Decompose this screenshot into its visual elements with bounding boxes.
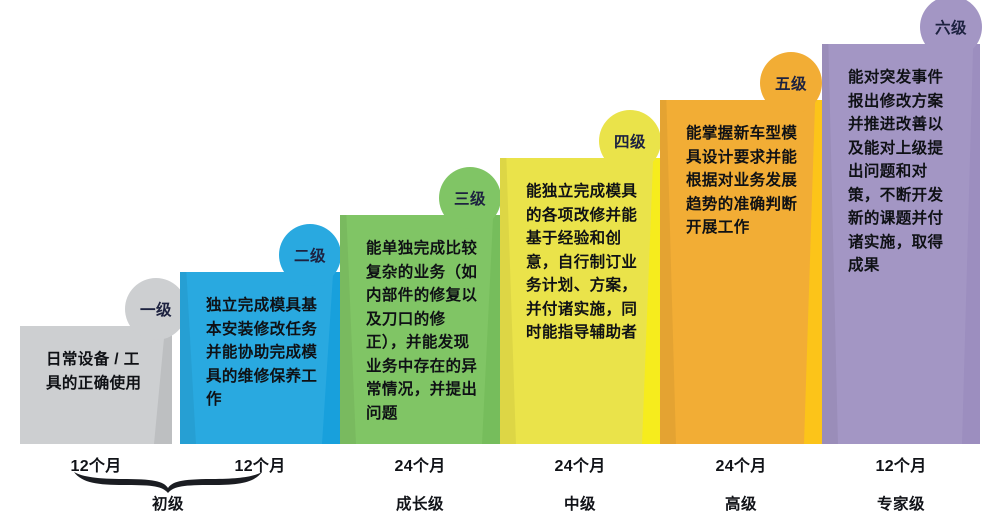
level-bar-2[interactable]: 独立完成模具基本安装修改任务并能协助完成模具的维修保养工作 [180, 272, 340, 444]
level-badge-label: 六级 [935, 16, 967, 38]
baseline-divider [0, 444, 1000, 446]
level-badge-3[interactable]: 三级 [439, 167, 501, 229]
level-description-1: 日常设备 / 工具的正确使用 [20, 348, 172, 395]
level-badge-label: 四级 [614, 130, 646, 152]
level-description-5: 能掌握新车型模具设计要求并能根据对业务发展趋势的准确判断开展工作 [660, 122, 822, 240]
level-bar-6[interactable]: 能对突发事件报出修改方案并推进改善以及能对上级提出问题和对策，不断开发新的课题并… [822, 44, 980, 444]
months-label-5: 24个月 [660, 452, 822, 474]
level-badge-label: 二级 [294, 244, 326, 266]
level-badge-label: 三级 [454, 187, 486, 209]
months-label-3: 24个月 [340, 452, 500, 474]
level-badge-2[interactable]: 二级 [279, 224, 341, 286]
level-badge-1[interactable]: 一级 [125, 278, 187, 340]
level-badge-label: 一级 [140, 298, 172, 320]
group-label-3: 中级 [500, 492, 660, 514]
level-description-6: 能对突发事件报出修改方案并推进改善以及能对上级提出问题和对策，不断开发新的课题并… [822, 66, 980, 278]
group-label-2: 成长级 [340, 492, 500, 514]
group-label-4: 高级 [661, 492, 821, 514]
grouping-brace-icon [72, 470, 264, 494]
level-bar-1[interactable]: 日常设备 / 工具的正确使用 [20, 326, 172, 444]
level-badge-5[interactable]: 五级 [760, 52, 822, 114]
level-badge-label: 五级 [775, 72, 807, 94]
level-bar-4[interactable]: 能独立完成模具的各项改修并能基于经验和创意，自行制订业务计划、方案，并付诸实施，… [500, 158, 660, 444]
career-ladder-chart: 日常设备 / 工具的正确使用一级独立完成模具基本安装修改任务并能协助完成模具的维… [0, 0, 1000, 523]
group-label-1: 初级 [88, 492, 248, 514]
level-description-3: 能单独完成比较复杂的业务（如内部件的修复以及刀口的修正），并能发现业务中存在的异… [340, 237, 500, 425]
level-description-4: 能独立完成模具的各项改修并能基于经验和创意，自行制订业务计划、方案，并付诸实施，… [500, 180, 660, 345]
months-label-4: 24个月 [500, 452, 660, 474]
level-bar-3[interactable]: 能单独完成比较复杂的业务（如内部件的修复以及刀口的修正），并能发现业务中存在的异… [340, 215, 500, 444]
level-badge-4[interactable]: 四级 [599, 110, 661, 172]
level-description-2: 独立完成模具基本安装修改任务并能协助完成模具的维修保养工作 [180, 294, 340, 412]
months-label-6: 12个月 [822, 452, 980, 474]
level-bar-5[interactable]: 能掌握新车型模具设计要求并能根据对业务发展趋势的准确判断开展工作 [660, 100, 822, 444]
group-label-5: 专家级 [821, 492, 981, 514]
